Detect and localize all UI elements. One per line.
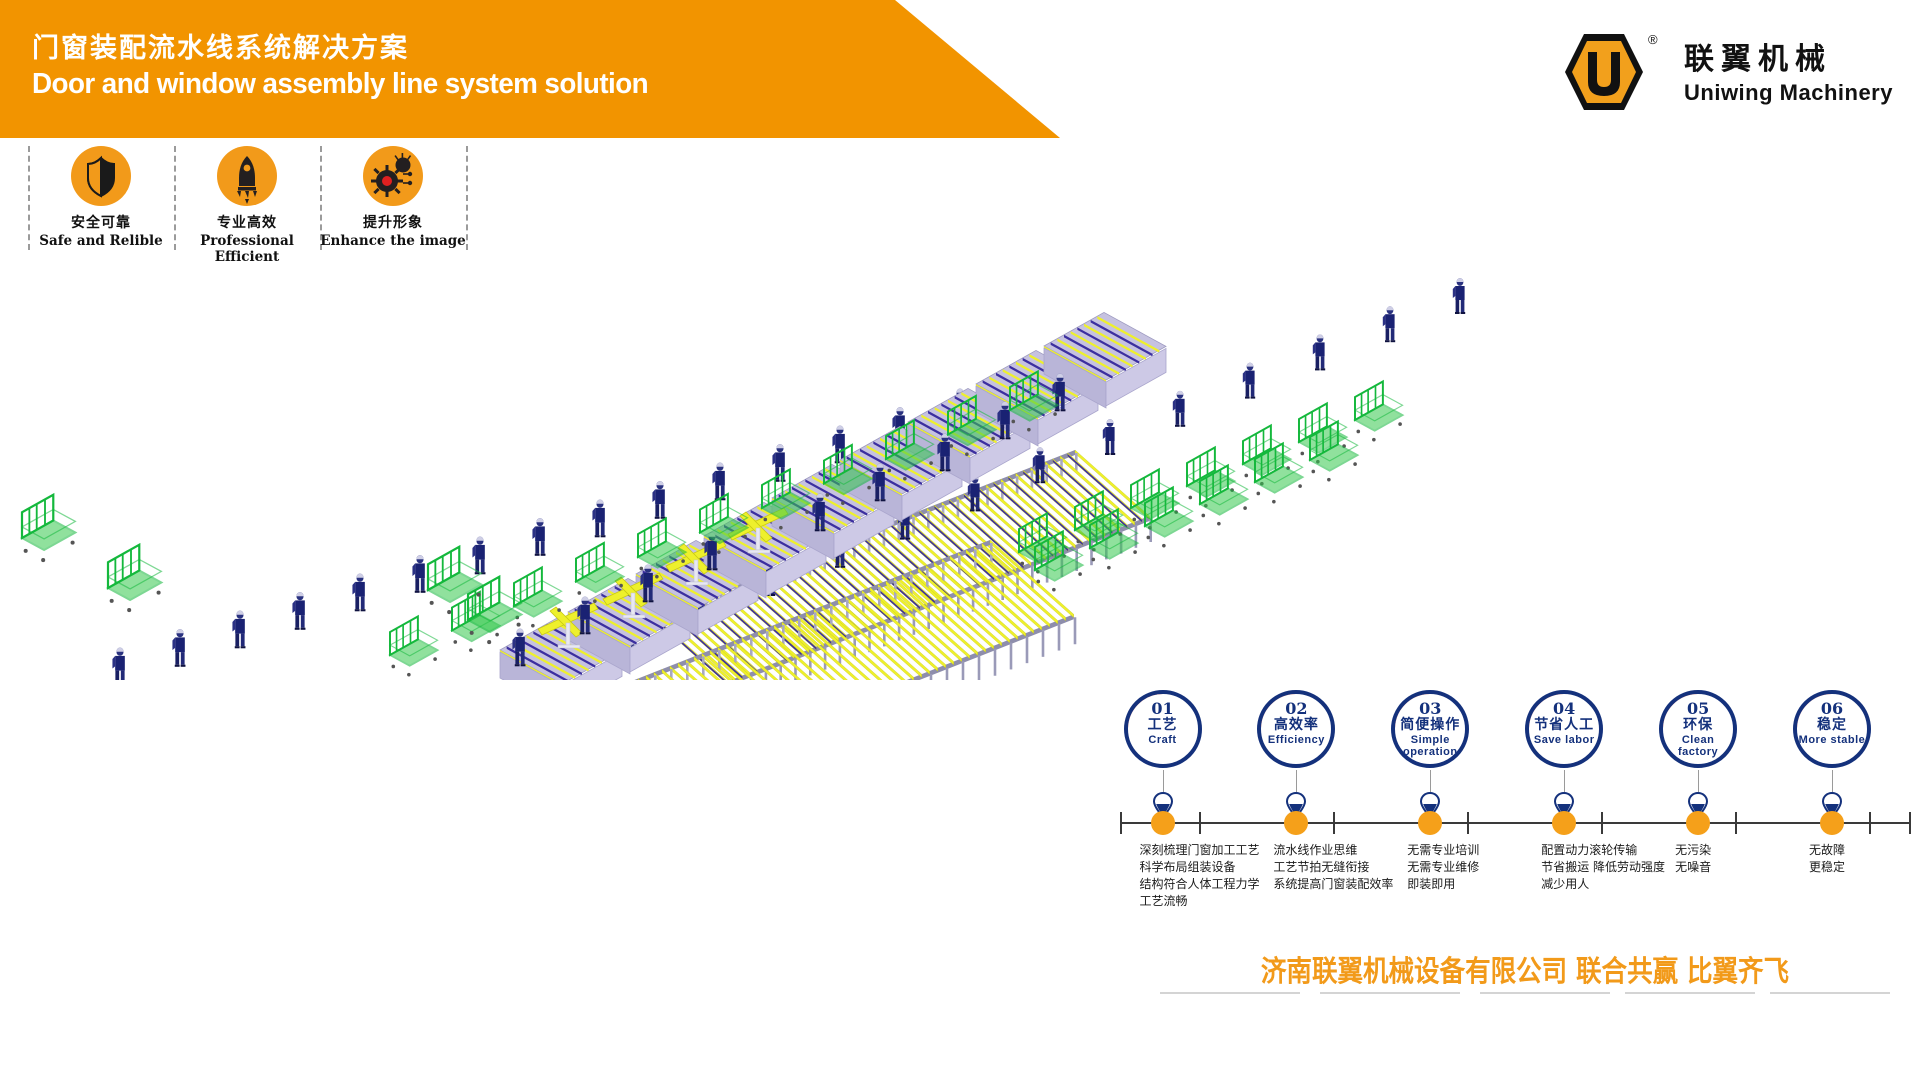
- footer-rule: [1320, 992, 1460, 994]
- timeline-description-line: 结构符合人体工程力学: [1140, 876, 1260, 893]
- timeline-stem: [1698, 770, 1699, 792]
- timeline-number: 05: [1663, 701, 1733, 717]
- timeline-label-en: Save labor: [1529, 735, 1599, 747]
- company-slogan: 济南联翼机械设备有限公司 联合共赢 比翼齐飞: [1177, 948, 1872, 990]
- timeline-label-cn: 高效率: [1261, 717, 1331, 734]
- page-title-cn: 门窗装配流水线系统解决方案: [32, 26, 409, 65]
- footer-rule: [1160, 992, 1300, 994]
- timeline-stem: [1163, 770, 1164, 792]
- timeline-description-line: 无污染: [1675, 842, 1711, 859]
- timeline-number: 04: [1529, 701, 1599, 717]
- timeline-description-line: 节省搬运 降低劳动强度: [1541, 859, 1665, 876]
- footer-rule: [1625, 992, 1755, 994]
- timeline-dot[interactable]: [1418, 811, 1442, 835]
- timeline-dot[interactable]: [1686, 811, 1710, 835]
- timeline-dot[interactable]: [1552, 811, 1576, 835]
- timeline-tick: [1735, 812, 1737, 834]
- timeline-circle-04[interactable]: 04 节省人工 Save labor: [1525, 690, 1603, 768]
- timeline-tick: [1199, 812, 1201, 834]
- material-cart: [22, 495, 75, 562]
- timeline-description-line: 深刻梳理门窗加工工艺: [1140, 842, 1260, 859]
- worker-figure: [472, 537, 485, 575]
- timeline-label-cn: 简便操作: [1395, 717, 1465, 734]
- timeline-description: 无故障更稳定: [1809, 842, 1845, 876]
- timeline-description: 流水线作业思维工艺节拍无缝衔接系统提高门窗装配效率: [1273, 842, 1393, 893]
- worker-figure: [592, 500, 605, 538]
- timeline-circle-01[interactable]: 01 工艺 Craft: [1124, 690, 1202, 768]
- timeline-description-line: 工艺流畅: [1140, 893, 1260, 910]
- timeline-number: 06: [1797, 701, 1867, 717]
- timeline-dot[interactable]: [1284, 811, 1308, 835]
- timeline-description-line: 工艺节拍无缝衔接: [1273, 859, 1393, 876]
- timeline-description-line: 无噪音: [1675, 859, 1711, 876]
- timeline-dot[interactable]: [1151, 811, 1175, 835]
- timeline-label-cn: 节省人工: [1529, 717, 1599, 734]
- timeline-description-line: 即装即用: [1407, 876, 1479, 893]
- logo-name-en: Uniwing Machinery: [1684, 80, 1893, 106]
- worker-figure: [352, 574, 365, 612]
- timeline-number: 02: [1261, 701, 1331, 717]
- material-cart: [514, 567, 562, 627]
- worker-figure: [172, 629, 185, 667]
- timeline-circle-05[interactable]: 05 环保 Clean factory: [1659, 690, 1737, 768]
- timeline-label-cn: 工艺: [1128, 717, 1198, 734]
- timeline-description-line: 无故障: [1809, 842, 1845, 859]
- page-title-en: Door and window assembly line system sol…: [32, 68, 648, 101]
- worker-figure: [1383, 306, 1395, 342]
- timeline-tick: [1467, 812, 1469, 834]
- timeline-tick: [1869, 812, 1871, 834]
- timeline-description-line: 无需专业培训: [1407, 842, 1479, 859]
- uniwing-hexagon-u-mark-icon: [1562, 30, 1646, 114]
- timeline-description-line: 无需专业维修: [1407, 859, 1479, 876]
- timeline-description-line: 配置动力滚轮传输: [1541, 842, 1665, 859]
- worker-figure: [1103, 419, 1115, 455]
- timeline-tick: [1601, 812, 1603, 834]
- footer-rule: [1480, 992, 1610, 994]
- timeline-circle-03[interactable]: 03 简便操作 Simple operation: [1391, 690, 1469, 768]
- worker-figure: [1243, 363, 1255, 399]
- timeline-circle-06[interactable]: 06 稳定 More stable: [1793, 690, 1871, 768]
- timeline-description-line: 减少用人: [1541, 876, 1665, 893]
- timeline-label-cn: 稳定: [1797, 717, 1867, 734]
- timeline-axis: [1120, 822, 1910, 824]
- footer-rule: [1770, 992, 1890, 994]
- brand-logo: ® 联翼机械 Uniwing Machinery: [1562, 28, 1902, 116]
- timeline-tick: [1909, 812, 1911, 834]
- assembly-line-illustration: [0, 120, 1560, 680]
- worker-figure: [1173, 391, 1185, 427]
- worker-figure: [532, 518, 545, 556]
- registered-trademark-icon: ®: [1648, 32, 1658, 47]
- worker-figure: [652, 481, 665, 519]
- timeline-stem: [1430, 770, 1431, 792]
- timeline-tick: [1120, 812, 1122, 834]
- timeline-description-line: 流水线作业思维: [1273, 842, 1393, 859]
- timeline-circle-02[interactable]: 02 高效率 Efficiency: [1257, 690, 1335, 768]
- assembly-line-svg: [0, 120, 1560, 680]
- timeline-number: 03: [1395, 701, 1465, 717]
- timeline-stem: [1832, 770, 1833, 792]
- worker-figure: [232, 611, 245, 649]
- timeline-tick: [1333, 812, 1335, 834]
- timeline-description: 无污染无噪音: [1675, 842, 1711, 876]
- material-cart: [1355, 381, 1403, 441]
- material-cart: [108, 545, 161, 612]
- timeline-description-line: 科学布局组装设备: [1140, 859, 1260, 876]
- logo-name-cn: 联翼机械: [1684, 34, 1832, 78]
- timeline-label-cn: 环保: [1663, 717, 1733, 734]
- material-cart: [428, 547, 481, 614]
- timeline-description: 配置动力滚轮传输节省搬运 降低劳动强度减少用人: [1541, 842, 1665, 893]
- timeline-description-line: 系统提高门窗装配效率: [1273, 876, 1393, 893]
- timeline-label-en: Clean factory: [1663, 735, 1733, 758]
- timeline-label-en: More stable: [1797, 735, 1867, 747]
- worker-figure: [112, 648, 125, 680]
- timeline-description: 无需专业培训无需专业维修即装即用: [1407, 842, 1479, 893]
- worker-figure: [1453, 278, 1465, 314]
- timeline-number: 01: [1128, 701, 1198, 717]
- timeline-stem: [1296, 770, 1297, 792]
- timeline-stem: [1564, 770, 1565, 792]
- advantages-timeline: 01 工艺 Craft 深刻梳理门窗加工工艺科学布局组装设备结构符合人体工程力学…: [1120, 690, 1910, 950]
- timeline-label-en: Efficiency: [1261, 735, 1331, 747]
- worker-figure: [1313, 335, 1325, 371]
- timeline-label-en: Simple operation: [1395, 735, 1465, 758]
- worker-figure: [412, 555, 425, 593]
- material-cart: [390, 616, 438, 676]
- timeline-label-en: Craft: [1128, 735, 1198, 747]
- timeline-description-line: 更稳定: [1809, 859, 1845, 876]
- timeline-description: 深刻梳理门窗加工工艺科学布局组装设备结构符合人体工程力学工艺流畅: [1140, 842, 1260, 910]
- worker-figure: [1033, 447, 1045, 483]
- worker-figure: [712, 463, 725, 501]
- company-footer: 济南联翼机械设备有限公司 联合共赢 比翼齐飞: [1130, 948, 1920, 1018]
- timeline-dot[interactable]: [1820, 811, 1844, 835]
- worker-figure: [292, 592, 305, 630]
